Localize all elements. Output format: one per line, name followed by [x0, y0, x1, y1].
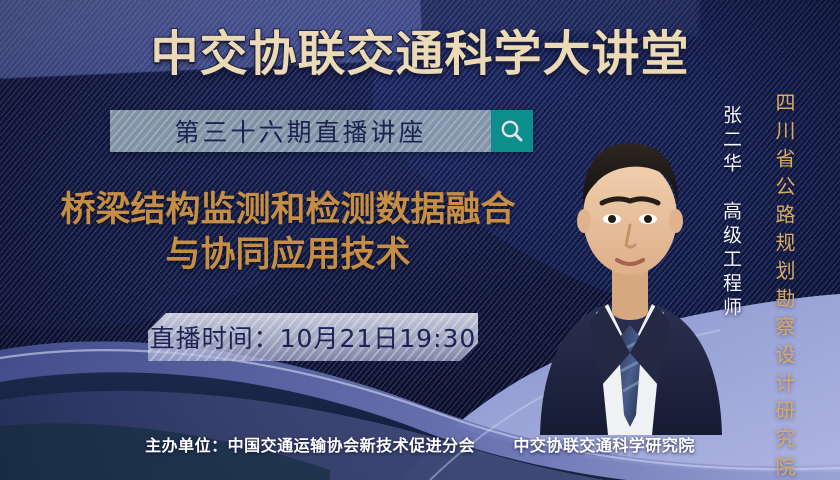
poster-canvas: 中交协联交通科学大讲堂 第三十六期直播讲座 桥梁结构监测和检测数据融合 与协同应… — [0, 0, 840, 480]
speaker-portrait — [532, 85, 728, 435]
episode-label: 第三十六期直播讲座 — [110, 110, 491, 152]
page-title: 中交协联交通科学大讲堂 — [0, 14, 840, 84]
search-icon[interactable] — [491, 110, 533, 152]
broadcast-time-text: 直播时间：10月21日19:30 — [150, 319, 477, 355]
topic-line-2: 与协同应用技术 — [18, 233, 558, 278]
organizer-secondary: 中交协联交通科学研究院 — [513, 436, 695, 455]
speaker-organization-vertical: 四川省公路规划勘察设计研究院有限公司 — [770, 92, 799, 464]
episode-banner-plate: 第三十六期直播讲座 — [110, 110, 491, 152]
episode-banner: 第三十六期直播讲座 — [110, 110, 533, 152]
topic-line-1: 桥梁结构监测和检测数据融合 — [60, 190, 515, 230]
speaker-name-vertical: 张二华 高级工程师 — [718, 105, 745, 295]
organizers-footer: 主办单位：中国交通运输协会新技术促进分会 中交协联交通科学研究院 — [0, 432, 840, 456]
broadcast-time-badge: 直播时间：10月21日19:30 — [148, 313, 478, 361]
organizer-primary: 主办单位：中国交通运输协会新技术促进分会 — [145, 436, 475, 455]
lecture-topic: 桥梁结构监测和检测数据融合 与协同应用技术 — [18, 188, 558, 278]
